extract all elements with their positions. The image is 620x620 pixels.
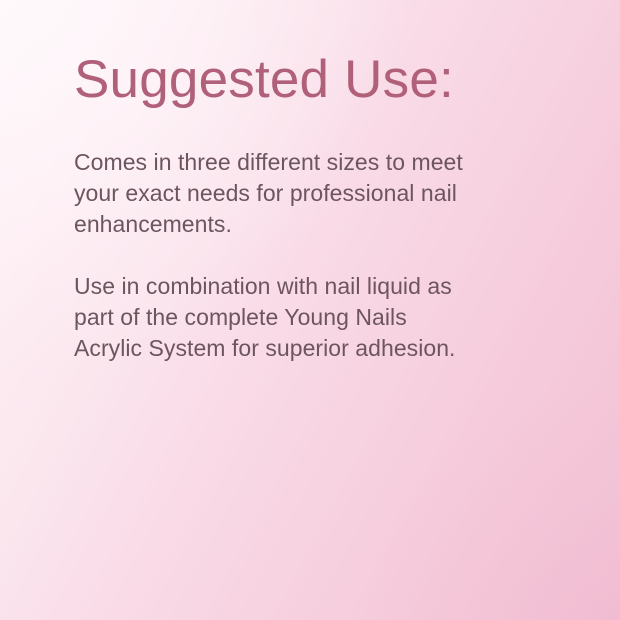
paragraph-system-line-1: Use in combination with nail liquid as (74, 273, 452, 299)
paragraph-sizes: Comes in three different sizes to meet y… (74, 147, 536, 240)
paragraph-sizes-line-2: your exact needs for professional nail (74, 180, 457, 206)
paragraph-system: Use in combination with nail liquid as p… (74, 271, 536, 364)
page-title: Suggested Use: (74, 52, 454, 107)
paragraph-sizes-line-3: enhancements. (74, 211, 232, 237)
paragraph-system-line-3: Acrylic System for superior adhesion. (74, 335, 456, 361)
paragraph-sizes-line-1: Comes in three different sizes to meet (74, 149, 463, 175)
paragraph-system-line-2: part of the complete Young Nails (74, 304, 407, 330)
suggested-use-panel: Suggested Use: Comes in three different … (0, 0, 620, 620)
body-text-block: Comes in three different sizes to meet y… (74, 147, 536, 364)
